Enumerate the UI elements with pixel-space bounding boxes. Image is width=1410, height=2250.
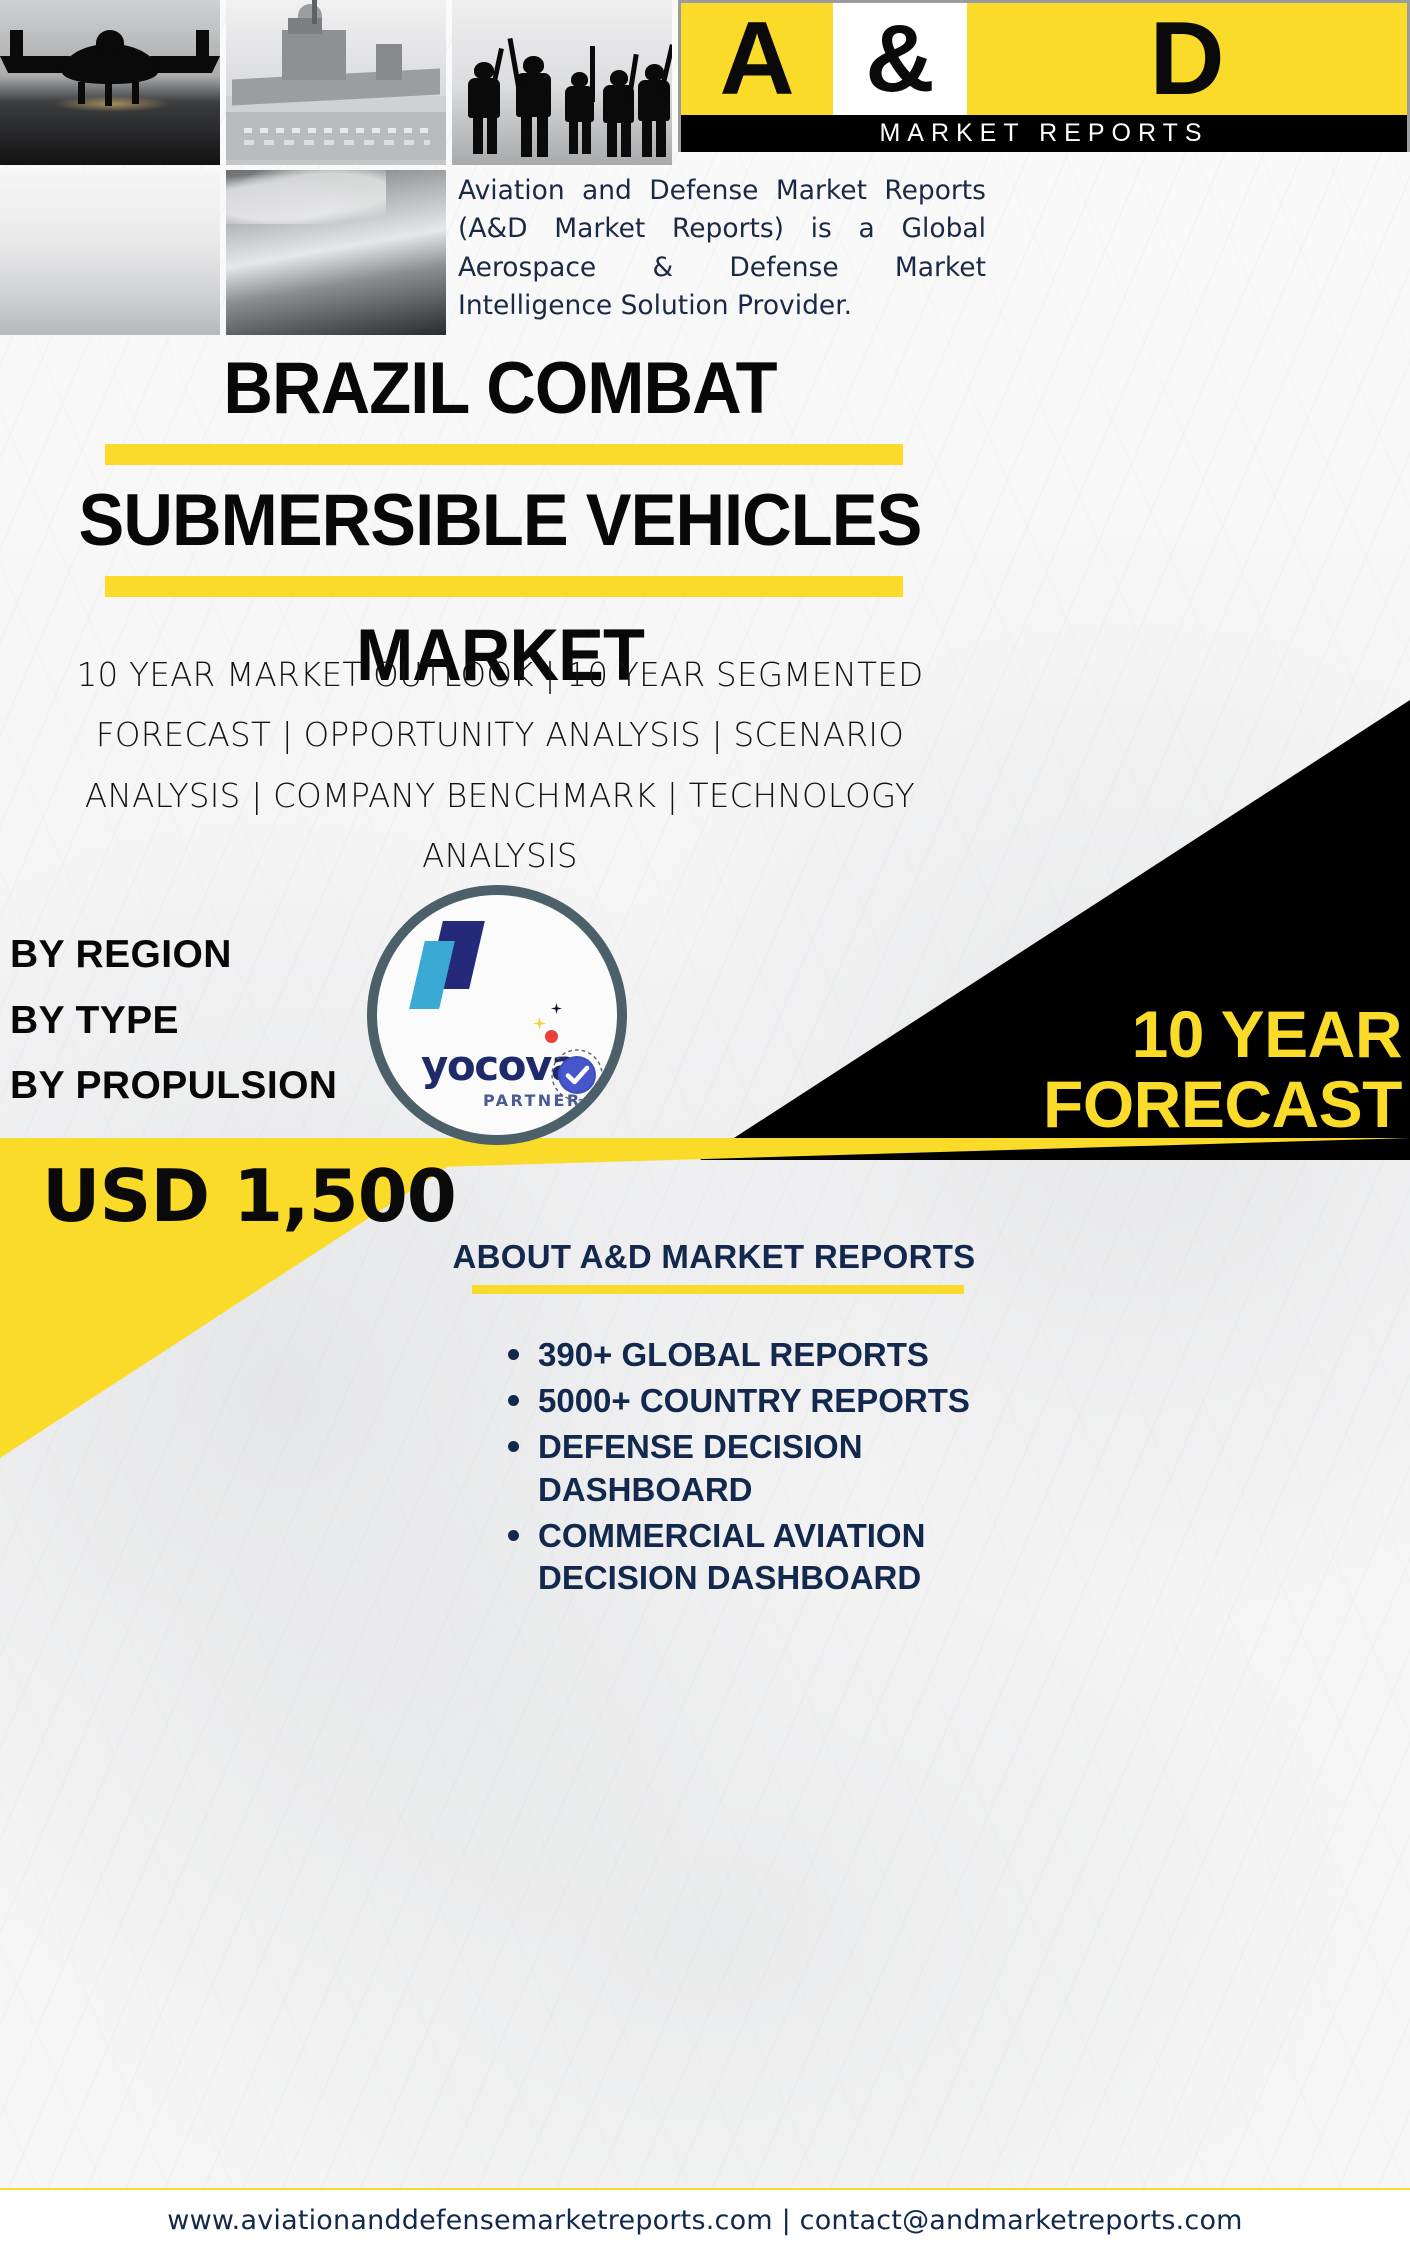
about-heading: ABOUT A&D MARKET REPORTS xyxy=(452,1238,976,1276)
badge-brand-name: yocova xyxy=(421,1045,546,1087)
sparkle-yellow-icon xyxy=(533,1017,546,1030)
sparkle-dark-icon xyxy=(551,1003,562,1014)
report-title-block: BRAZIL COMBAT SUBMERSIBLE VEHICLES MARKE… xyxy=(0,352,1000,692)
price-label: USD 1,500 xyxy=(42,1160,456,1232)
logo-letter-panes: A & D xyxy=(681,3,1407,115)
yocova-partner-badge[interactable]: yocova PARTNER xyxy=(367,885,627,1145)
poster-root: A & D MARKET REPORTS Aviation and Defens… xyxy=(0,0,1410,2250)
company-intro-text: Aviation and Defense Market Reports (A&D… xyxy=(458,172,986,326)
segmentation-list: BY REGION BY TYPE BY PROPULSION xyxy=(10,922,337,1119)
logo-letter-a: A xyxy=(681,3,833,115)
brand-logo[interactable]: A & D MARKET REPORTS xyxy=(678,0,1410,152)
logo-ampersand: & xyxy=(833,3,967,115)
forecast-line-1: 10 YEAR xyxy=(702,1000,1402,1070)
helicopter-photo xyxy=(0,170,220,335)
verified-check-seal-icon xyxy=(549,1047,605,1103)
armored-vehicle-photo xyxy=(226,170,446,335)
forecast-callout: 10 YEAR FORECAST xyxy=(702,1000,1402,1140)
about-bullet-0: 390+ GLOBAL REPORTS xyxy=(502,1334,972,1376)
forecast-line-2: FORECAST xyxy=(702,1070,1402,1140)
report-title-line-1: BRAZIL COMBAT xyxy=(30,352,970,425)
aircraft-carrier-photo xyxy=(226,0,446,165)
segment-item-2: BY PROPULSION xyxy=(10,1053,337,1119)
about-bullet-3: COMMERCIAL AVIATION DECISION DASHBOARD xyxy=(502,1515,972,1599)
title-divider-bar-top xyxy=(105,444,903,465)
about-heading-underline xyxy=(472,1285,964,1294)
logo-tagline-bar: MARKET REPORTS xyxy=(681,115,1407,152)
report-title-line-2: SUBMERSIBLE VEHICLES xyxy=(30,484,970,557)
segment-item-0: BY REGION xyxy=(10,922,337,988)
about-section: ABOUT A&D MARKET REPORTS 390+ GLOBAL REP… xyxy=(452,1238,1392,1603)
soldiers-silhouette-photo xyxy=(452,0,672,165)
title-divider-bar-bottom xyxy=(105,576,903,597)
about-bullet-list: 390+ GLOBAL REPORTS 5000+ COUNTRY REPORT… xyxy=(502,1334,1392,1599)
about-bullet-2: DEFENSE DECISION DASHBOARD xyxy=(502,1426,972,1510)
about-bullet-1: 5000+ COUNTRY REPORTS xyxy=(502,1380,972,1422)
logo-tagline: MARKET REPORTS xyxy=(879,119,1208,148)
report-subtitle: 10 YEAR MARKET OUTLOOK | 10 YEAR SEGMENT… xyxy=(28,645,972,887)
logo-letter-d: D xyxy=(967,3,1407,115)
fighter-jet-photo xyxy=(0,0,220,165)
footer-contact-text: www.aviationanddefensemarketreports.com … xyxy=(167,2205,1242,2236)
segment-item-1: BY TYPE xyxy=(10,988,337,1054)
footer-contact-bar[interactable]: www.aviationanddefensemarketreports.com … xyxy=(0,2188,1410,2250)
